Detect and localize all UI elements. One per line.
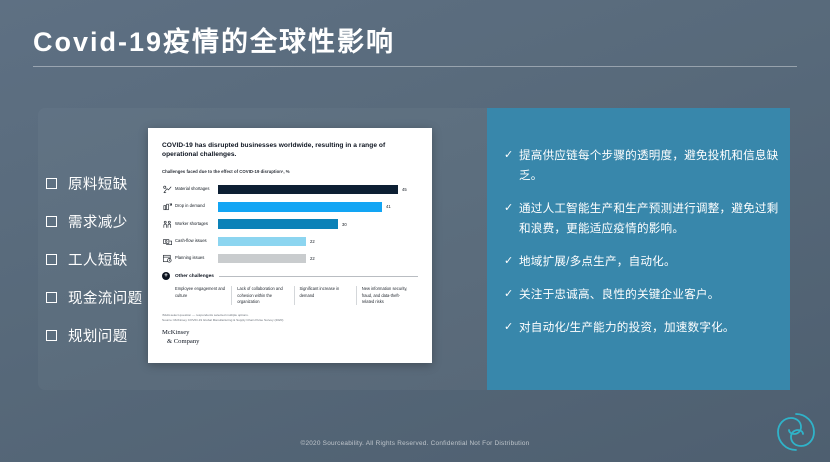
bar-fill — [218, 254, 306, 264]
chart-footnotes: ¹Multi-select question — respondents sel… — [162, 313, 418, 323]
mckinsey-logo: McKinsey & Company — [162, 329, 418, 345]
bar-track: 22 — [218, 251, 418, 265]
checkbox-icon[interactable] — [46, 292, 57, 303]
worker-shortages-icon — [162, 219, 175, 230]
title-divider — [33, 66, 797, 67]
section-divider — [219, 276, 418, 277]
bar-row: Planning issues 22 — [162, 251, 418, 265]
list-item: ✓ 地域扩展/多点生产，自动化。 — [504, 252, 779, 272]
other-challenges-title: Other challenges — [175, 274, 214, 279]
check-icon: ✓ — [504, 252, 519, 271]
other-challenge-item: New information security, fraud, and dat… — [356, 286, 418, 304]
bar-value: 45 — [402, 187, 407, 192]
recommendation-text: 提高供应链每个步骤的透明度，避免投机和信息缺乏。 — [519, 146, 779, 186]
list-item-label: 原料短缺 — [68, 173, 128, 194]
list-item: ✓ 关注于忠诚高、良性的关键企业客户。 — [504, 285, 779, 305]
bar-label: Planning issues — [175, 256, 218, 261]
bar-fill — [218, 219, 338, 229]
list-item: ✓ 对自动化/生产能力的投资，加速数字化。 — [504, 318, 779, 338]
other-challenge-item: Lack of collaboration and cohesion withi… — [231, 286, 293, 304]
bar-value: 22 — [310, 239, 315, 244]
bar-track: 22 — [218, 234, 418, 248]
list-item-label: 工人短缺 — [68, 249, 128, 270]
sourceability-spiral-logo — [772, 408, 820, 456]
recommendation-text: 通过人工智能生产和生产预测进行调整，避免过剩和浪费，更能适应疫情的影响。 — [519, 199, 779, 239]
bar-label: Material shortages — [175, 187, 218, 192]
check-icon: ✓ — [504, 199, 519, 218]
recommendation-text: 地域扩展/多点生产，自动化。 — [519, 252, 676, 272]
check-icon: ✓ — [504, 318, 519, 337]
checkbox-icon[interactable] — [46, 178, 57, 189]
checkbox-icon[interactable] — [46, 254, 57, 265]
bar-track: 30 — [218, 217, 418, 231]
bar-value: 22 — [310, 256, 315, 261]
chart-subtitle: Challenges faced due to the effect of CO… — [162, 169, 418, 174]
slide-canvas: Covid-19疫情的全球性影响 原料短缺 需求减少 工人短缺 现金流问题 规划… — [0, 0, 830, 462]
checkbox-icon[interactable] — [46, 330, 57, 341]
bar-label: Worker shortages — [175, 222, 218, 227]
bar-fill — [218, 237, 306, 247]
bar-label: Cash-flow issues — [175, 239, 218, 244]
material-shortages-icon — [162, 184, 175, 195]
bar-chart: Material shortages 45 Drop in demand 41 — [162, 183, 418, 266]
chart-title: COVID-19 has disrupted businesses worldw… — [162, 141, 418, 160]
bar-value: 30 — [342, 222, 347, 227]
footer-copyright: ©2020 Sourceability. All Rights Reserved… — [0, 440, 830, 447]
bar-row: Cash-flow issues 22 — [162, 234, 418, 248]
mckinsey-logo-line2: & Company — [162, 338, 418, 346]
planning-issues-icon — [162, 253, 175, 264]
mckinsey-logo-line1: McKinsey — [162, 329, 418, 337]
other-challenge-item: Employee engagement and culture — [175, 286, 231, 304]
bar-row: Material shortages 45 — [162, 183, 418, 197]
drop-in-demand-icon — [162, 201, 175, 212]
other-challenges-columns: Employee engagement and culture Lack of … — [162, 286, 418, 304]
footnote-source: Source: McKinsey COVID-19 Global Manufac… — [162, 318, 418, 323]
bar-value: 41 — [386, 204, 391, 209]
bar-track: 41 — [218, 200, 418, 214]
list-item: ✓ 提高供应链每个步骤的透明度，避免投机和信息缺乏。 — [504, 146, 779, 186]
plus-icon: + — [162, 272, 170, 280]
other-challenges-section: + Other challenges Employee engagement a… — [162, 272, 418, 304]
bar-row: Worker shortages 30 — [162, 217, 418, 231]
checkbox-icon[interactable] — [46, 216, 57, 227]
other-challenges-header: + Other challenges — [162, 272, 418, 280]
other-challenge-item: Significant increase in demand — [294, 286, 356, 304]
recommendations-list: ✓ 提高供应链每个步骤的透明度，避免投机和信息缺乏。 ✓ 通过人工智能生产和生产… — [504, 146, 779, 351]
list-item-label: 需求减少 — [68, 211, 128, 232]
page-title: Covid-19疫情的全球性影响 — [33, 20, 395, 59]
check-icon: ✓ — [504, 285, 519, 304]
bar-fill — [218, 202, 382, 212]
mckinsey-exhibit-card: COVID-19 has disrupted businesses worldw… — [148, 128, 432, 363]
bar-label: Drop in demand — [175, 204, 218, 209]
check-icon: ✓ — [504, 146, 519, 165]
recommendation-text: 对自动化/生产能力的投资，加速数字化。 — [519, 318, 735, 338]
bar-row: Drop in demand 41 — [162, 200, 418, 214]
cash-flow-issues-icon — [162, 236, 175, 247]
list-item: ✓ 通过人工智能生产和生产预测进行调整，避免过剩和浪费，更能适应疫情的影响。 — [504, 199, 779, 239]
list-item-label: 现金流问题 — [68, 287, 143, 308]
recommendation-text: 关注于忠诚高、良性的关键企业客户。 — [519, 285, 720, 305]
bar-fill — [218, 185, 398, 195]
bar-track: 45 — [218, 183, 418, 197]
list-item-label: 规划问题 — [68, 325, 128, 346]
